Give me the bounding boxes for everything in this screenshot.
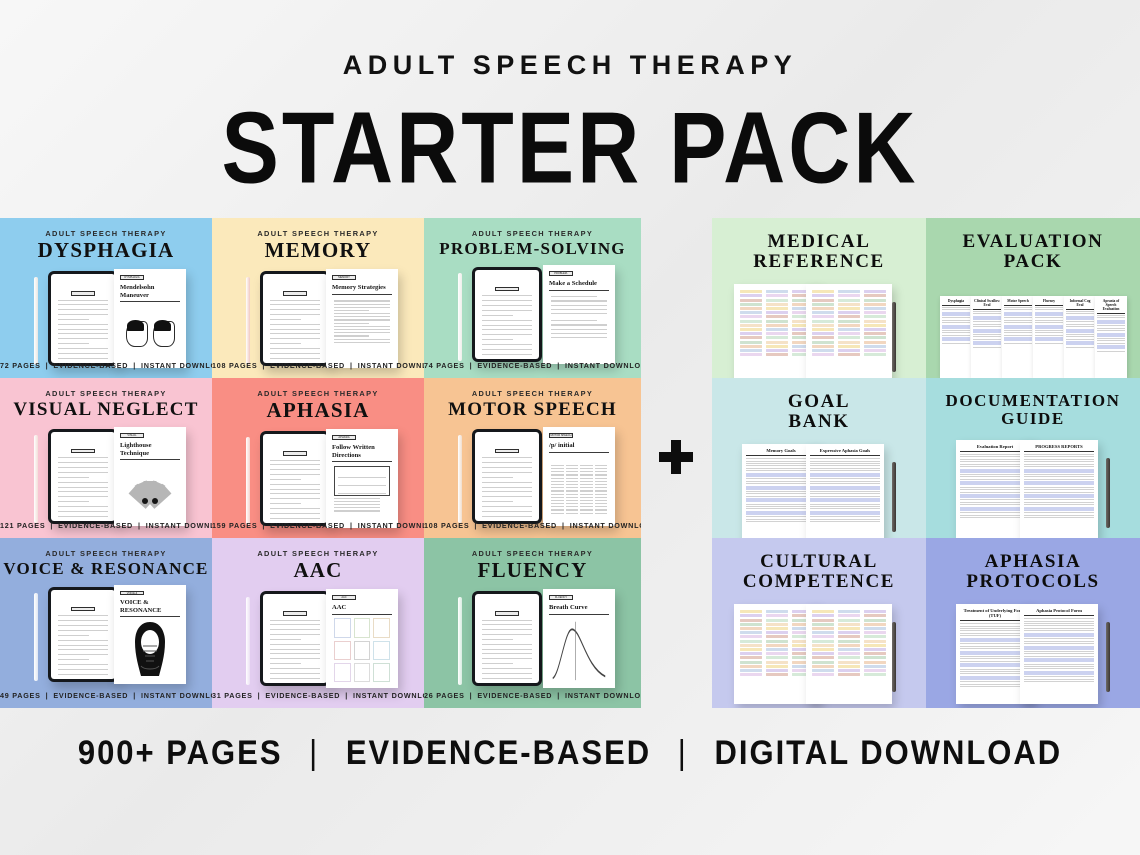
product-kicker: ADULT SPEECH THERAPY bbox=[257, 549, 378, 558]
evaluation-form: Fluency bbox=[1033, 296, 1065, 378]
product-tile[interactable]: ADULT SPEECH THERAPYFLUENCYFLUENCYBreath… bbox=[424, 538, 641, 708]
product-pages: 159 PAGES bbox=[212, 521, 257, 530]
meta-sep-1: | bbox=[41, 361, 54, 370]
worksheet-mockup: VISUAL NEGLECTLighthouse Technique bbox=[114, 427, 186, 526]
product-meta: 108 PAGES|EVIDENCE-BASED|INSTANT DOWNLOA… bbox=[212, 361, 424, 370]
stylus-left-icon bbox=[34, 277, 38, 365]
meta-sep-2: | bbox=[340, 691, 353, 700]
worksheet-illustration-heads bbox=[120, 304, 180, 365]
bonus-title-line1: MEDICAL bbox=[753, 232, 885, 252]
product-evidence: EVIDENCE-BASED bbox=[265, 691, 340, 700]
tablet-mockup bbox=[260, 431, 330, 526]
product-download: INSTANT DOWNLOAD bbox=[358, 521, 424, 530]
bonus-title-line2: PACK bbox=[963, 252, 1104, 272]
worksheet-tag: AAC bbox=[332, 595, 356, 600]
worksheet-divider bbox=[120, 459, 180, 460]
worksheet-mockup: MOTOR SPEECH/p/ initial bbox=[543, 427, 615, 526]
evaluation-forms-fan: DysphagiaClinical Swallow EvalMotor Spee… bbox=[940, 296, 1126, 378]
product-title: AAC bbox=[293, 560, 342, 581]
meta-sep-2: | bbox=[128, 691, 141, 700]
bonus-product-tile[interactable]: EVALUATIONPACKDysphagiaClinical Swallow … bbox=[926, 218, 1140, 378]
worksheet-illustration-breath-curve bbox=[549, 616, 609, 684]
product-download: INSTANT DOWNLOAD bbox=[358, 361, 424, 370]
bonus-title-line2: BANK bbox=[788, 412, 850, 432]
bonus-title-line2: PROTOCOLS bbox=[966, 572, 1099, 592]
stylus-left-icon bbox=[246, 437, 250, 525]
product-evidence: EVIDENCE-BASED bbox=[53, 691, 128, 700]
worksheet-illustration-larynx bbox=[120, 618, 180, 680]
bonus-product-tile[interactable]: MEDICALREFERENCE bbox=[712, 218, 926, 378]
worksheet-mockup: MEMORYMemory Strategies bbox=[326, 269, 398, 368]
worksheet-title: Lighthouse Technique bbox=[120, 442, 180, 457]
bonus-mockup bbox=[712, 272, 926, 378]
document-title: Expressive Aphasia Goals bbox=[810, 448, 880, 453]
tablet-tag bbox=[71, 449, 95, 453]
bonus-product-tile[interactable]: DOCUMENTATIONGUIDEEvaluation ReportPROGR… bbox=[926, 378, 1140, 538]
bonus-title-line1: EVALUATION bbox=[963, 232, 1104, 252]
worksheet-title: Mendelsohn Maneuver bbox=[120, 284, 180, 299]
reference-chart-right bbox=[806, 284, 892, 378]
product-mockup: VOICE & RESONANCEVOICE & RESONANCE bbox=[0, 577, 212, 708]
product-tile[interactable]: ADULT SPEECH THERAPYAACAACAAC31 PAGES|EV… bbox=[212, 538, 424, 708]
form-label: Motor Speech bbox=[1004, 299, 1032, 303]
product-evidence: EVIDENCE-BASED bbox=[270, 521, 345, 530]
stylus-right-icon bbox=[892, 302, 896, 372]
meta-sep-1: | bbox=[257, 521, 270, 530]
product-meta: 159 PAGES|EVIDENCE-BASED|INSTANT DOWNLOA… bbox=[212, 521, 424, 530]
worksheet-title: Make a Schedule bbox=[549, 280, 609, 287]
evaluation-form: Apraxia of Speech Evaluation bbox=[1095, 296, 1127, 378]
meta-sep-1: | bbox=[45, 521, 58, 530]
tablet-mockup bbox=[472, 267, 542, 362]
worksheet-tag: DYSPHAGIA bbox=[120, 275, 144, 280]
product-download: INSTANT DOWNLOAD bbox=[141, 691, 212, 700]
product-kicker: ADULT SPEECH THERAPY bbox=[257, 389, 378, 398]
product-tile[interactable]: ADULT SPEECH THERAPYMEMORYMEMORYMemory S… bbox=[212, 218, 424, 378]
product-title: APHASIA bbox=[267, 400, 370, 421]
form-label: Dysphagia bbox=[942, 299, 970, 303]
stylus-left-icon bbox=[34, 435, 38, 523]
worksheet-title: Breath Curve bbox=[549, 604, 609, 611]
product-pages: 26 PAGES bbox=[424, 691, 465, 700]
worksheet-mockup: AACAAC bbox=[326, 589, 398, 688]
footer-download: DIGITAL DOWNLOAD bbox=[714, 733, 1062, 772]
product-title: VOICE & RESONANCE bbox=[3, 560, 208, 577]
worksheet-divider bbox=[332, 294, 392, 295]
product-mockup: PROBLEM-SOLVINGMake a Schedule bbox=[424, 257, 641, 378]
tablet-mockup bbox=[472, 591, 542, 686]
product-pages: 108 PAGES bbox=[212, 361, 257, 370]
footer-separator-2: | bbox=[662, 733, 704, 772]
bonus-mockup: Memory GoalsExpressive Aphasia Goals bbox=[712, 432, 926, 538]
product-meta: 108 PAGES|EVIDENCE-BASED|INSTANT DOWNLOA… bbox=[424, 521, 641, 530]
bonus-title: CULTURALCOMPETENCE bbox=[743, 552, 895, 592]
product-mockup: AACAAC bbox=[212, 581, 424, 708]
tablet-tag bbox=[495, 287, 519, 291]
worksheet-illustration-lighthouse bbox=[120, 462, 180, 523]
product-pages: 31 PAGES bbox=[212, 691, 253, 700]
tablet-tag bbox=[283, 291, 307, 295]
worksheet-divider bbox=[332, 614, 392, 615]
product-meta: 26 PAGES|EVIDENCE-BASED|INSTANT DOWNLOAD bbox=[424, 691, 641, 700]
product-tile[interactable]: ADULT SPEECH THERAPYVOICE & RESONANCEVOI… bbox=[0, 538, 212, 708]
stylus-left-icon bbox=[458, 597, 462, 685]
worksheet-divider bbox=[549, 614, 609, 615]
bonus-product-grid: MEDICALREFERENCEEVALUATIONPACKDysphagiaC… bbox=[712, 218, 1140, 708]
stylus-right-icon bbox=[892, 462, 896, 532]
evaluation-form: Motor Speech bbox=[1002, 296, 1034, 378]
worksheet-illustration-schedule bbox=[549, 292, 609, 360]
bonus-mockup: Treatment of Underlying Forms (TUF)Aphas… bbox=[926, 592, 1140, 708]
tablet-mockup bbox=[260, 271, 330, 366]
stylus-left-icon bbox=[246, 597, 250, 685]
product-pages: 108 PAGES bbox=[424, 521, 469, 530]
worksheet-tag: PROBLEM-SOLVING bbox=[549, 271, 573, 276]
worksheet-divider bbox=[120, 301, 180, 302]
product-kicker: ADULT SPEECH THERAPY bbox=[472, 229, 593, 238]
tablet-mockup bbox=[260, 591, 330, 686]
product-meta: 74 PAGES|EVIDENCE-BASED|INSTANT DOWNLOAD bbox=[424, 361, 641, 370]
tablet-mockup bbox=[472, 429, 542, 524]
worksheet-mockup: DYSPHAGIAMendelsohn Maneuver bbox=[114, 269, 186, 368]
product-evidence: EVIDENCE-BASED bbox=[270, 361, 345, 370]
bonus-title: DOCUMENTATIONGUIDE bbox=[945, 392, 1120, 428]
bonus-title-line1: DOCUMENTATION bbox=[945, 392, 1120, 410]
bonus-mockup: Evaluation ReportPROGRESS REPORTS bbox=[926, 428, 1140, 538]
product-kicker: ADULT SPEECH THERAPY bbox=[45, 389, 166, 398]
footer-pages: 900+ PAGES bbox=[78, 733, 283, 772]
product-meta: 49 PAGES|EVIDENCE-BASED|INSTANT DOWNLOAD bbox=[0, 691, 212, 700]
worksheet-divider bbox=[549, 290, 609, 291]
tablet-tag bbox=[283, 451, 307, 455]
poster-footer: 900+ PAGES | EVIDENCE-BASED | DIGITAL DO… bbox=[0, 733, 1140, 773]
worksheet-illustration-wordlist bbox=[549, 454, 609, 522]
worksheet-title: VOICE & RESONANCE bbox=[120, 599, 180, 614]
form-label: Fluency bbox=[1035, 299, 1063, 303]
meta-sep-1: | bbox=[465, 691, 478, 700]
stylus-left-icon bbox=[458, 435, 462, 523]
document-title: Aphasia Protocol Form bbox=[1024, 608, 1094, 613]
product-download: INSTANT DOWNLOAD bbox=[570, 521, 641, 530]
worksheet-title: AAC bbox=[332, 604, 392, 611]
stylus-right-icon bbox=[892, 622, 896, 692]
meta-sep-1: | bbox=[253, 691, 266, 700]
product-tile[interactable]: ADULT SPEECH THERAPYMOTOR SPEECHMOTOR SP… bbox=[424, 378, 641, 538]
tablet-tag bbox=[495, 611, 519, 615]
bonus-title-line1: APHASIA bbox=[966, 552, 1099, 572]
product-title: VISUAL NEGLECT bbox=[13, 400, 198, 419]
tablet-tag bbox=[71, 607, 95, 611]
bonus-product-tile[interactable]: APHASIAPROTOCOLSTreatment of Underlying … bbox=[926, 538, 1140, 708]
product-evidence: EVIDENCE-BASED bbox=[477, 691, 552, 700]
poster-header: ADULT SPEECH THERAPY STARTER PACK bbox=[0, 0, 1140, 185]
tablet-mockup bbox=[48, 587, 118, 682]
worksheet-mockup: FLUENCYBreath Curve bbox=[543, 589, 615, 688]
bonus-product-tile[interactable]: CULTURALCOMPETENCE bbox=[712, 538, 926, 708]
document-divider bbox=[810, 455, 880, 456]
worksheet-tag: MEMORY bbox=[332, 275, 356, 280]
product-pages: 74 PAGES bbox=[424, 361, 465, 370]
form-label: Informal Cog Eval bbox=[1066, 299, 1094, 307]
product-title: MEMORY bbox=[265, 240, 372, 261]
meta-sep-2: | bbox=[552, 691, 565, 700]
product-tile[interactable]: ADULT SPEECH THERAPYAPHASIAAPHASIAFollow… bbox=[212, 378, 424, 538]
form-label: Clinical Swallow Eval bbox=[973, 299, 1001, 307]
plus-icon bbox=[659, 440, 693, 474]
meta-sep-1: | bbox=[465, 361, 478, 370]
bonus-mockup: DysphagiaClinical Swallow EvalMotor Spee… bbox=[926, 272, 1140, 378]
product-kicker: ADULT SPEECH THERAPY bbox=[45, 549, 166, 558]
bonus-title-line1: GOAL bbox=[788, 392, 850, 412]
worksheet-divider bbox=[549, 452, 609, 453]
product-kicker: ADULT SPEECH THERAPY bbox=[257, 229, 378, 238]
bonus-title-line2: REFERENCE bbox=[753, 252, 885, 272]
document-right: Expressive Aphasia Goals bbox=[806, 444, 884, 538]
worksheet-tag: FLUENCY bbox=[549, 595, 573, 600]
bonus-product-tile[interactable]: GOALBANKMemory GoalsExpressive Aphasia G… bbox=[712, 378, 926, 538]
tablet-tag bbox=[495, 449, 519, 453]
worksheet-mockup: PROBLEM-SOLVINGMake a Schedule bbox=[543, 265, 615, 364]
product-evidence: EVIDENCE-BASED bbox=[58, 521, 133, 530]
meta-sep-2: | bbox=[552, 361, 565, 370]
bonus-title: MEDICALREFERENCE bbox=[753, 232, 885, 272]
bonus-title: APHASIAPROTOCOLS bbox=[966, 552, 1099, 592]
worksheet-title: Follow Written Directions bbox=[332, 444, 392, 459]
product-kicker: ADULT SPEECH THERAPY bbox=[472, 389, 593, 398]
meta-sep-2: | bbox=[557, 521, 570, 530]
poster-canvas: ADULT SPEECH THERAPY STARTER PACK ADULT … bbox=[0, 0, 1140, 855]
page-title: STARTER PACK bbox=[0, 95, 1140, 202]
worksheet-illustration-aac-board bbox=[332, 616, 392, 684]
product-title: FLUENCY bbox=[478, 560, 588, 581]
document-title: PROGRESS REPORTS bbox=[1024, 444, 1094, 449]
tablet-mockup bbox=[48, 429, 118, 524]
product-evidence: EVIDENCE-BASED bbox=[53, 361, 128, 370]
worksheet-illustration-directions bbox=[332, 464, 392, 525]
product-download: INSTANT DOWNLOAD bbox=[565, 361, 641, 370]
reference-chart-right bbox=[806, 604, 892, 704]
worksheet-tag: MOTOR SPEECH bbox=[549, 433, 573, 438]
worksheet-illustration-text bbox=[332, 296, 392, 364]
stylus-left-icon bbox=[458, 273, 462, 361]
product-download: INSTANT DOWNLOAD bbox=[565, 691, 641, 700]
product-pages: 121 PAGES bbox=[0, 521, 45, 530]
product-pages: 72 PAGES bbox=[0, 361, 41, 370]
bonus-mockup bbox=[712, 592, 926, 708]
product-download: INSTANT DOWNLOAD bbox=[353, 691, 424, 700]
worksheet-tag: VISUAL NEGLECT bbox=[120, 433, 144, 438]
evaluation-form: Clinical Swallow Eval bbox=[971, 296, 1003, 378]
worksheet-tag: VOICE & RESONANCE bbox=[120, 591, 144, 595]
product-evidence: EVIDENCE-BASED bbox=[477, 361, 552, 370]
product-tile[interactable]: ADULT SPEECH THERAPYDYSPHAGIADYSPHAGIAMe… bbox=[0, 218, 212, 378]
footer-evidence: EVIDENCE-BASED bbox=[346, 733, 651, 772]
bonus-title: GOALBANK bbox=[788, 392, 850, 432]
document-divider bbox=[1024, 615, 1094, 616]
product-download: INSTANT DOWNLOAD bbox=[146, 521, 212, 530]
evaluation-form: Informal Cog Eval bbox=[1064, 296, 1096, 378]
document-right: PROGRESS REPORTS bbox=[1020, 440, 1098, 538]
worksheet-title: /p/ initial bbox=[549, 442, 609, 449]
bonus-title-line2: COMPETENCE bbox=[743, 572, 895, 592]
evaluation-form: Dysphagia bbox=[940, 296, 972, 378]
product-meta: 121 PAGES|EVIDENCE-BASED|INSTANT DOWNLOA… bbox=[0, 521, 212, 530]
product-evidence: EVIDENCE-BASED bbox=[482, 521, 557, 530]
stylus-left-icon bbox=[34, 593, 38, 681]
product-title: PROBLEM-SOLVING bbox=[439, 240, 625, 257]
tablet-mockup bbox=[48, 271, 118, 366]
meta-sep-1: | bbox=[41, 691, 54, 700]
document-divider bbox=[1024, 451, 1094, 452]
tablet-tag bbox=[283, 611, 307, 615]
worksheet-tag: APHASIA bbox=[332, 435, 356, 440]
meta-sep-2: | bbox=[345, 361, 358, 370]
product-pages: 49 PAGES bbox=[0, 691, 41, 700]
bonus-title: EVALUATIONPACK bbox=[963, 232, 1104, 272]
product-tile[interactable]: ADULT SPEECH THERAPYPROBLEM-SOLVINGPROBL… bbox=[424, 218, 641, 378]
product-kicker: ADULT SPEECH THERAPY bbox=[45, 229, 166, 238]
worksheet-title: Memory Strategies bbox=[332, 284, 392, 291]
header-kicker: ADULT SPEECH THERAPY bbox=[0, 52, 1140, 79]
worksheet-mockup: APHASIAFollow Written Directions bbox=[326, 429, 398, 528]
stylus-left-icon bbox=[246, 277, 250, 365]
product-tile[interactable]: ADULT SPEECH THERAPYVISUAL NEGLECTVISUAL… bbox=[0, 378, 212, 538]
stylus-right-icon bbox=[1106, 622, 1110, 692]
product-grids: ADULT SPEECH THERAPYDYSPHAGIADYSPHAGIAMe… bbox=[0, 218, 1140, 708]
product-kicker: ADULT SPEECH THERAPY bbox=[472, 549, 593, 558]
product-title: MOTOR SPEECH bbox=[448, 400, 617, 419]
meta-sep-2: | bbox=[345, 521, 358, 530]
product-title: DYSPHAGIA bbox=[38, 240, 175, 261]
product-meta: 31 PAGES|EVIDENCE-BASED|INSTANT DOWNLOAD bbox=[212, 691, 424, 700]
footer-separator-1: | bbox=[293, 733, 335, 772]
document-right: Aphasia Protocol Form bbox=[1020, 604, 1098, 704]
stylus-right-icon bbox=[1106, 458, 1110, 528]
product-mockup: FLUENCYBreath Curve bbox=[424, 581, 641, 708]
worksheet-mockup: VOICE & RESONANCEVOICE & RESONANCE bbox=[114, 585, 186, 684]
product-download: INSTANT DOWNLOAD bbox=[141, 361, 212, 370]
meta-sep-2: | bbox=[128, 361, 141, 370]
bonus-title-line2: GUIDE bbox=[945, 410, 1120, 428]
form-label: Apraxia of Speech Evaluation bbox=[1097, 299, 1125, 311]
bonus-title-line1: CULTURAL bbox=[743, 552, 895, 572]
tablet-tag bbox=[71, 291, 95, 295]
product-meta: 72 PAGES|EVIDENCE-BASED|INSTANT DOWNLOAD bbox=[0, 361, 212, 370]
main-product-grid: ADULT SPEECH THERAPYDYSPHAGIADYSPHAGIAMe… bbox=[0, 218, 641, 708]
meta-sep-2: | bbox=[133, 521, 146, 530]
meta-sep-1: | bbox=[257, 361, 270, 370]
worksheet-divider bbox=[332, 461, 392, 462]
meta-sep-1: | bbox=[469, 521, 482, 530]
